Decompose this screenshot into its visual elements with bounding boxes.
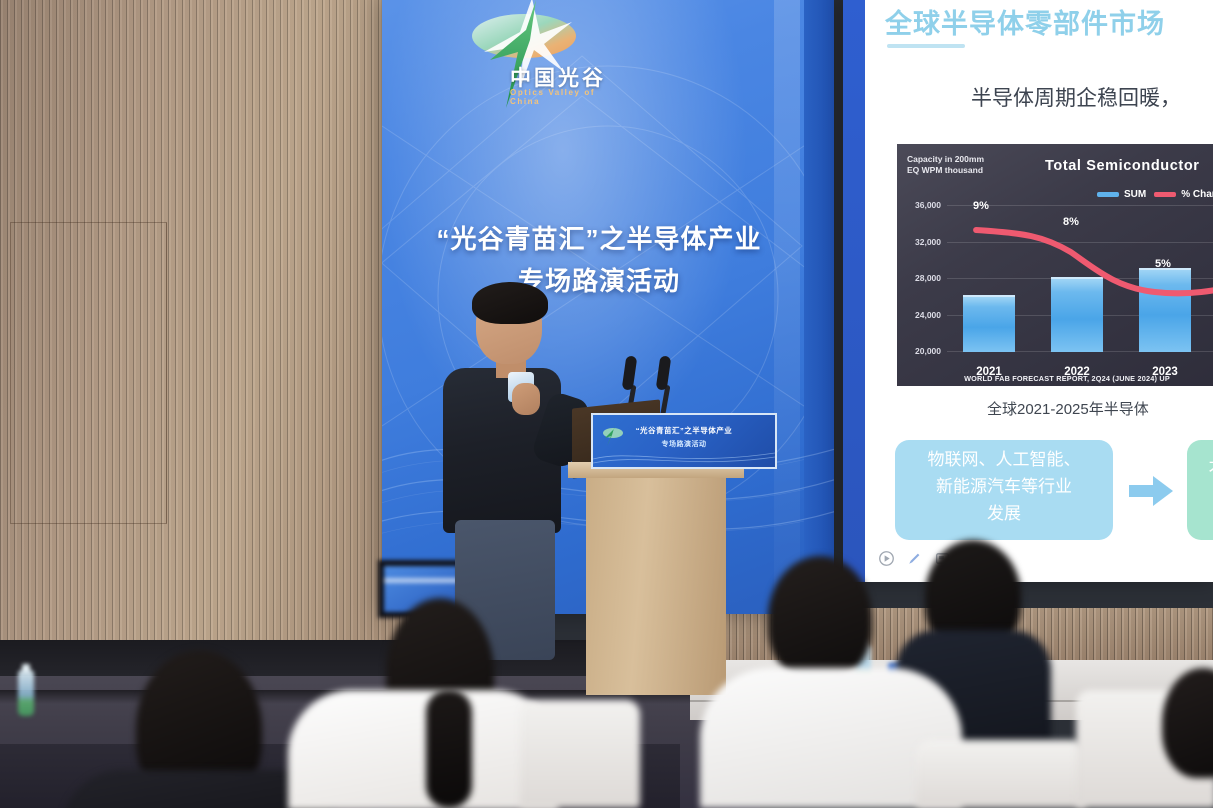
blue-callout-line3: 发展 (895, 500, 1113, 527)
slide-chart-caption: 全球2021-2025年半导体 (987, 398, 1149, 419)
podium-sign: “光谷青苗汇”之半导体产业 专场路演活动 (591, 413, 777, 469)
audience-head-center (768, 556, 872, 680)
slide-subtitle: 半导体周期企稳回暖， (971, 82, 1181, 112)
chair-center (916, 740, 1086, 808)
y-tick-label: 32,000 (915, 237, 941, 247)
legend-swatch-change (1154, 192, 1176, 197)
podium-sign-wave (593, 447, 775, 467)
slide-blue-callout: 物联网、人工智能、 新能源汽车等行业 发展 (895, 440, 1113, 540)
slide-green-callout: 不 (1187, 440, 1213, 540)
data-label-2023: 5% (1155, 258, 1171, 270)
speaker-hair (472, 282, 548, 324)
chart-legend: SUM % Change (1097, 189, 1213, 200)
speaker-hand (512, 383, 540, 415)
podium-sign-line1: “光谷青苗汇”之半导体产业 (593, 425, 775, 436)
presentation-screen: 全球半导体零部件市场 半导体周期企稳回暖， Capacity in 200mmE… (843, 0, 1213, 582)
data-label-2022: 8% (1063, 216, 1079, 228)
legend-label-sum: SUM (1124, 189, 1146, 200)
semiconductor-capacity-chart: Capacity in 200mmEQ WPM thousand Total S… (897, 144, 1213, 386)
slide-content: 全球半导体零部件市场 半导体周期企稳回暖， Capacity in 200mmE… (865, 0, 1213, 582)
podium-body (586, 470, 726, 695)
legend-item-sum: SUM (1097, 189, 1146, 200)
green-callout-text: 不 (1209, 460, 1213, 479)
conference-photo: 中国光谷 Optics Valley of China “光谷青苗汇”之半导体产… (0, 0, 1213, 808)
chair-front-left (520, 700, 640, 808)
audience-ponytail (426, 690, 472, 808)
y-tick-label: 24,000 (915, 310, 941, 320)
legend-label-change: % Change (1181, 189, 1213, 200)
slide-title: 全球半导体零部件市场 (885, 2, 1165, 41)
y-tick-label: 20,000 (915, 346, 941, 356)
wall-panel-seam (10, 222, 167, 524)
optics-valley-logo: 中国光谷 Optics Valley of China (460, 0, 620, 112)
chart-y-axis-label: Capacity in 200mmEQ WPM thousand (907, 154, 984, 176)
y-tick-label: 36,000 (915, 200, 941, 210)
data-label-2021: 9% (973, 200, 989, 212)
y-tick-label: 28,000 (915, 273, 941, 283)
arrow-right-icon (1129, 474, 1173, 508)
audience-shoulders-white-blazer (288, 690, 558, 808)
play-icon[interactable] (879, 551, 894, 566)
percent-change-line (947, 206, 1213, 352)
chart-plot-area: 20,000 24,000 28,000 32,000 36,000 2021 … (947, 206, 1213, 352)
blue-callout-line2: 新能源汽车等行业 (895, 473, 1113, 500)
event-title: “光谷青苗汇”之半导体产业 专场路演活动 (382, 218, 816, 302)
pen-icon[interactable] (907, 551, 922, 566)
legend-item-change: % Change (1154, 189, 1213, 200)
legend-swatch-sum (1097, 192, 1119, 197)
event-title-line2: 专场路演活动 (382, 260, 816, 302)
event-title-line1: “光谷青苗汇”之半导体产业 (382, 218, 816, 260)
logo-english-text: Optics Valley of China (510, 88, 620, 106)
chart-title: Total Semiconductor (1045, 158, 1200, 174)
slide-left-frame (843, 0, 865, 582)
wood-slat-wall-left (0, 0, 410, 660)
water-bottle-left (18, 670, 34, 716)
chart-source-note: WORLD FAB FORECAST REPORT, 2Q24 (JUNE 20… (897, 374, 1213, 383)
blue-callout-line1: 物联网、人工智能、 (895, 446, 1113, 473)
slide-title-underline (887, 44, 965, 48)
